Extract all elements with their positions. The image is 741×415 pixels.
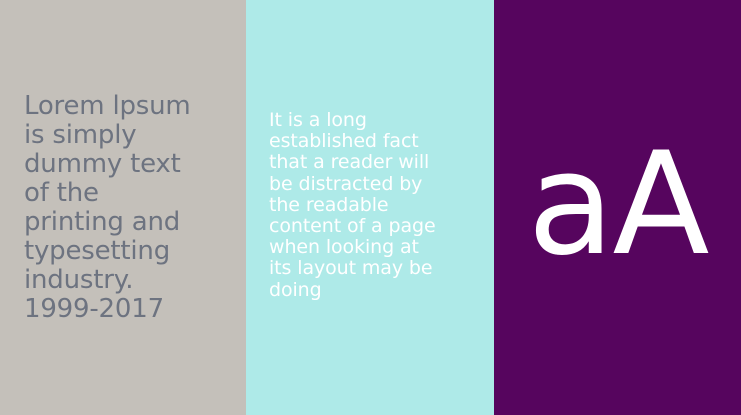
uppercase-a-glyph: A: [612, 134, 707, 276]
grey-panel-paragraph: Lorem lpsum is simply dummy text of the …: [24, 92, 234, 324]
lowercase-a-glyph: a: [527, 134, 612, 276]
cyan-panel-paragraph: It is a long established fact that a rea…: [269, 110, 481, 301]
glyph-specimen: a A: [494, 0, 741, 415]
poster-canvas: Lorem lpsum is simply dummy text of the …: [0, 0, 741, 415]
grey-panel: Lorem lpsum is simply dummy text of the …: [0, 0, 246, 415]
purple-panel: a A: [494, 0, 741, 415]
